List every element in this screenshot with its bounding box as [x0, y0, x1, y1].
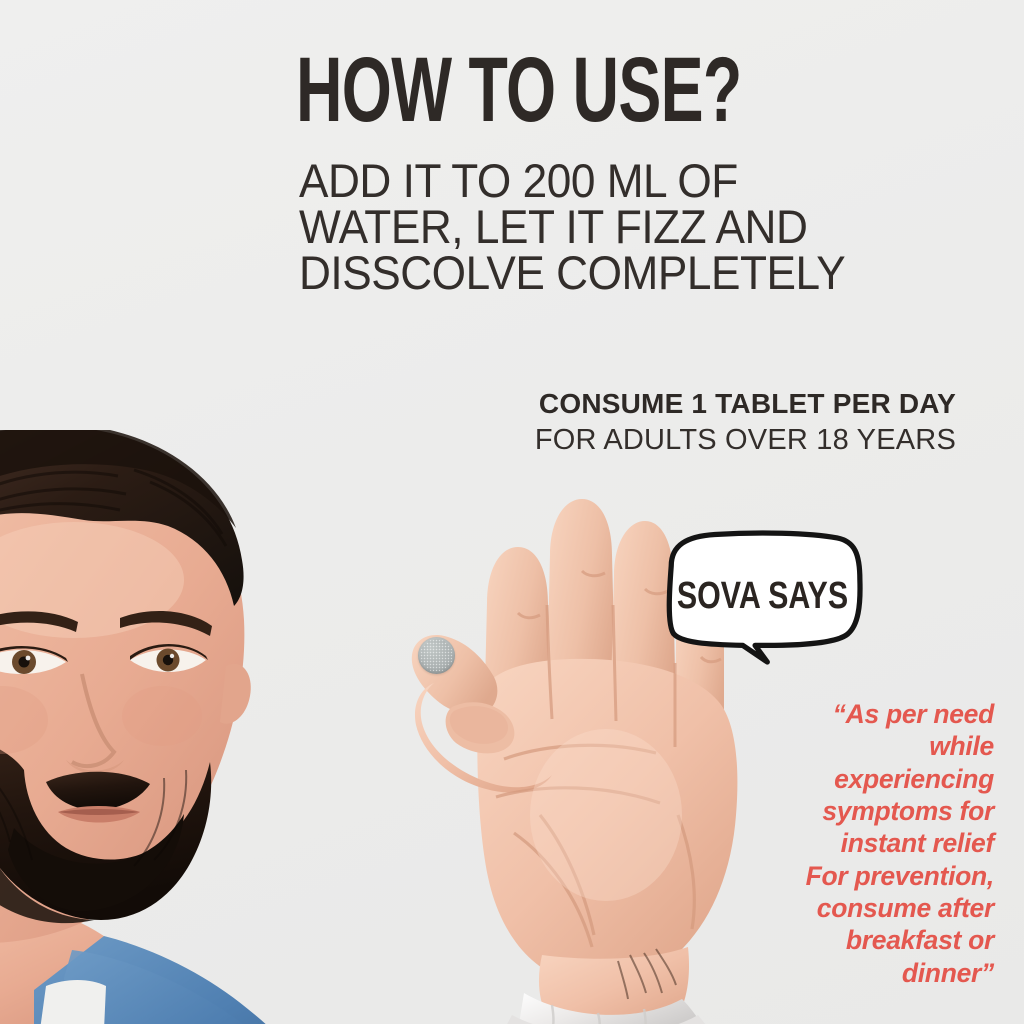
man-portrait-image: [0, 430, 374, 1024]
advice-quote: “As per need while experiencing symptoms…: [759, 698, 994, 989]
quote-line-9: dinner”: [759, 957, 994, 989]
quote-line-4: symptoms for: [759, 795, 994, 827]
dosage-secondary: FOR ADULTS OVER 18 YEARS: [535, 424, 956, 457]
quote-line-2: while: [759, 730, 994, 762]
bubble-label: SOVA SAYS: [671, 531, 854, 662]
instructions-block: ADD IT TO 200 ML OF WATER, LET IT FIZZ A…: [299, 158, 882, 296]
quote-line-8: breakfast or: [759, 924, 994, 956]
instruction-line-2: WATER, LET IT FIZZ AND: [299, 204, 882, 250]
speech-bubble: SOVA SAYS: [648, 531, 877, 662]
page-title: HOW TO USE?: [296, 48, 741, 133]
quote-line-5: instant relief: [759, 827, 994, 859]
effervescent-tablet: [418, 637, 455, 674]
quote-line-3: experiencing: [759, 763, 994, 795]
instruction-line-1: ADD IT TO 200 ML OF: [299, 158, 882, 204]
poster-canvas: HOW TO USE? ADD IT TO 200 ML OF WATER, L…: [0, 0, 1024, 1024]
dosage-primary: CONSUME 1 TABLET PER DAY: [535, 388, 956, 420]
quote-line-6: For prevention,: [759, 860, 994, 892]
dosage-block: CONSUME 1 TABLET PER DAY FOR ADULTS OVER…: [535, 388, 956, 457]
instruction-line-3: DISSCOLVE COMPLETELY: [299, 250, 882, 296]
quote-line-7: consume after: [759, 892, 994, 924]
quote-line-1: “As per need: [759, 698, 994, 730]
